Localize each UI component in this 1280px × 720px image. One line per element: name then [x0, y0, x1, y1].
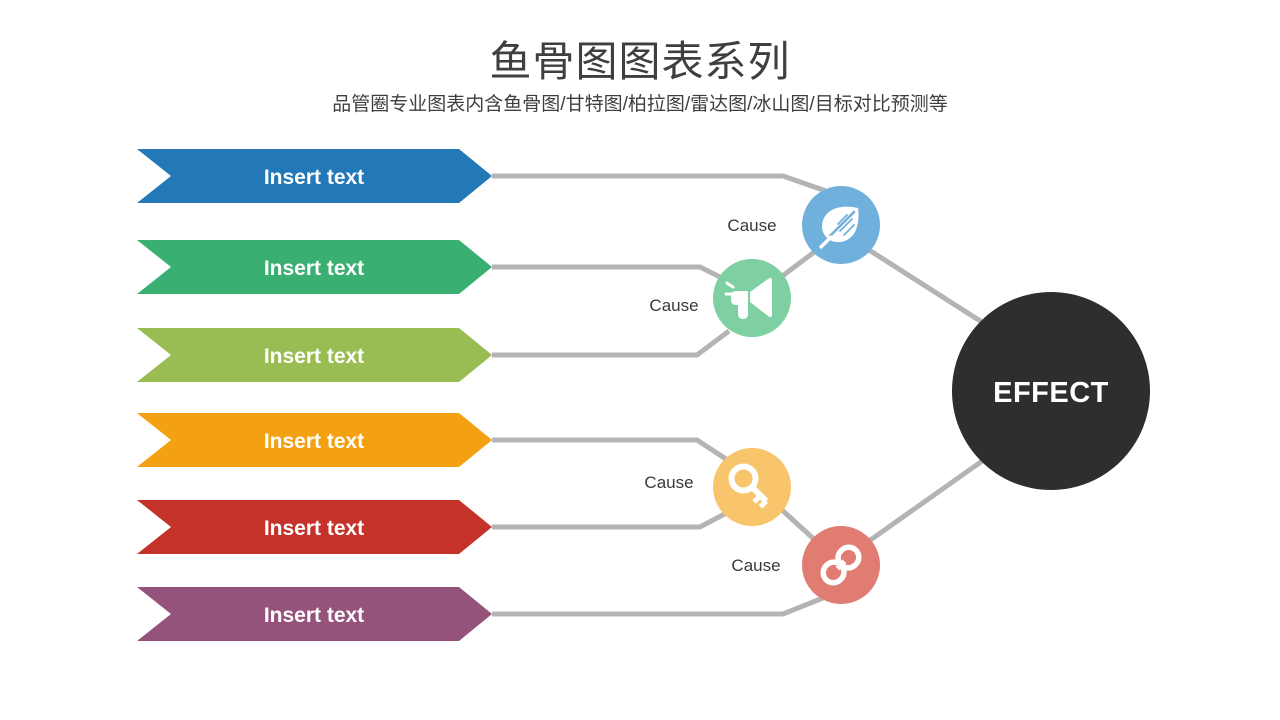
- effect-node[interactable]: EFFECT: [952, 292, 1150, 490]
- bone-arrow-5-label: Insert text: [264, 517, 364, 540]
- bone-arrow-1[interactable]: Insert text: [137, 149, 492, 203]
- cause-node-3[interactable]: [713, 448, 791, 526]
- bone-arrow-2[interactable]: Insert text: [137, 240, 492, 294]
- effect-label: EFFECT: [993, 377, 1109, 409]
- cause-label-1: Cause: [727, 216, 776, 235]
- bone-arrow-3[interactable]: Insert text: [137, 328, 492, 382]
- connector-bone-6: [492, 598, 823, 614]
- connector-bone-5: [492, 511, 730, 527]
- bone-arrow-4-label: Insert text: [264, 430, 364, 453]
- bone-arrows: Insert text Insert text Insert text Inse…: [137, 149, 492, 641]
- bone-arrow-6-label: Insert text: [264, 604, 364, 627]
- connector-cause-3-to-cause-4: [782, 510, 816, 541]
- connector-cause-2-to-cause-1: [781, 250, 817, 277]
- connector-bone-3: [492, 331, 729, 355]
- cause-label-4: Cause: [731, 556, 780, 575]
- connector-bone-1: [492, 176, 826, 191]
- bone-arrow-3-label: Insert text: [264, 345, 364, 368]
- cause-node-1[interactable]: [802, 186, 880, 264]
- connector-group: [492, 176, 985, 614]
- connector-bone-2: [492, 267, 730, 282]
- connector-cause-4-to-effect: [869, 459, 985, 541]
- cause-node-4[interactable]: [802, 526, 880, 604]
- bone-arrow-4[interactable]: Insert text: [137, 413, 492, 467]
- slide-canvas: 鱼骨图图表系列 品管圈专业图表内含鱼骨图/甘特图/柏拉图/雷达图/冰山图/目标对…: [0, 0, 1280, 720]
- connector-cause-1-to-effect: [869, 250, 985, 324]
- bone-arrow-1-label: Insert text: [264, 166, 364, 189]
- cause-label-2: Cause: [649, 296, 698, 315]
- bone-arrow-2-label: Insert text: [264, 257, 364, 280]
- fishbone-diagram: Insert text Insert text Insert text Inse…: [0, 0, 1280, 720]
- connector-bone-4: [492, 440, 729, 461]
- bone-arrow-6[interactable]: Insert text: [137, 587, 492, 641]
- cause-label-3: Cause: [644, 473, 693, 492]
- bone-arrow-5[interactable]: Insert text: [137, 500, 492, 554]
- cause-node-2[interactable]: [713, 259, 791, 337]
